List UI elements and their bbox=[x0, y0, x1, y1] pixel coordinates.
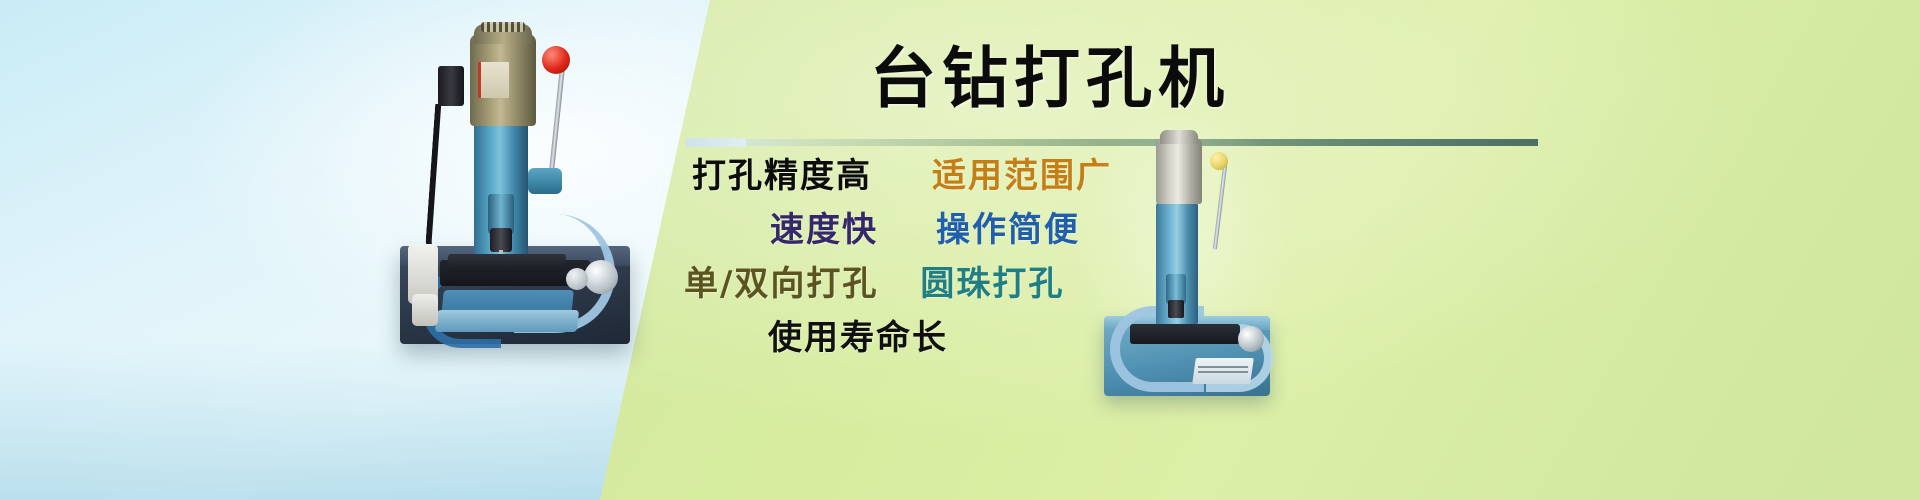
feature-item-5: 圆珠打孔 bbox=[920, 264, 1064, 304]
motor-vents bbox=[481, 22, 525, 32]
lever-knob-red bbox=[542, 46, 570, 74]
handwheel bbox=[1238, 326, 1264, 352]
motor-label bbox=[478, 62, 509, 98]
promo-banner: 台钻打孔机 打孔精度高 适用范围广 速度快 操作简便 单/双向打孔 圆珠打孔 使… bbox=[0, 0, 1920, 500]
side-handle bbox=[412, 294, 438, 326]
feature-item-4: 单/双向打孔 bbox=[684, 264, 878, 304]
product-image-right bbox=[1090, 128, 1280, 400]
lever-knob bbox=[1210, 152, 1228, 170]
work-table bbox=[1130, 324, 1240, 344]
feature-item-6: 使用寿命长 bbox=[768, 318, 948, 358]
feature-item-2: 速度快 bbox=[770, 210, 878, 250]
feature-row-4: 使用寿命长 bbox=[768, 318, 948, 358]
drill-chuck bbox=[1168, 300, 1184, 318]
feed-lever bbox=[548, 64, 566, 184]
work-vise bbox=[448, 254, 566, 272]
page-title: 台钻打孔机 bbox=[600, 40, 1500, 116]
switch-box bbox=[438, 66, 464, 106]
lever-hub bbox=[528, 168, 562, 194]
product-tag-text bbox=[1198, 366, 1248, 374]
feature-item-3: 操作简便 bbox=[936, 210, 1080, 250]
motor-cap bbox=[1160, 130, 1198, 144]
right-handwheel-inner bbox=[566, 268, 588, 290]
power-cable bbox=[425, 104, 449, 255]
feature-row-3: 单/双向打孔 圆珠打孔 bbox=[684, 264, 1064, 304]
motor-housing bbox=[1156, 138, 1202, 204]
feature-item-0: 打孔精度高 bbox=[692, 156, 872, 196]
feature-list: 打孔精度高 适用范围广 速度快 操作简便 单/双向打孔 圆珠打孔 使用寿命长 bbox=[600, 140, 1520, 470]
feature-row-2: 速度快 操作简便 bbox=[770, 210, 1080, 250]
feature-row-1: 打孔精度高 适用范围广 bbox=[692, 156, 1112, 196]
chip-tray-lower bbox=[435, 310, 579, 332]
drill-chuck bbox=[490, 228, 512, 252]
